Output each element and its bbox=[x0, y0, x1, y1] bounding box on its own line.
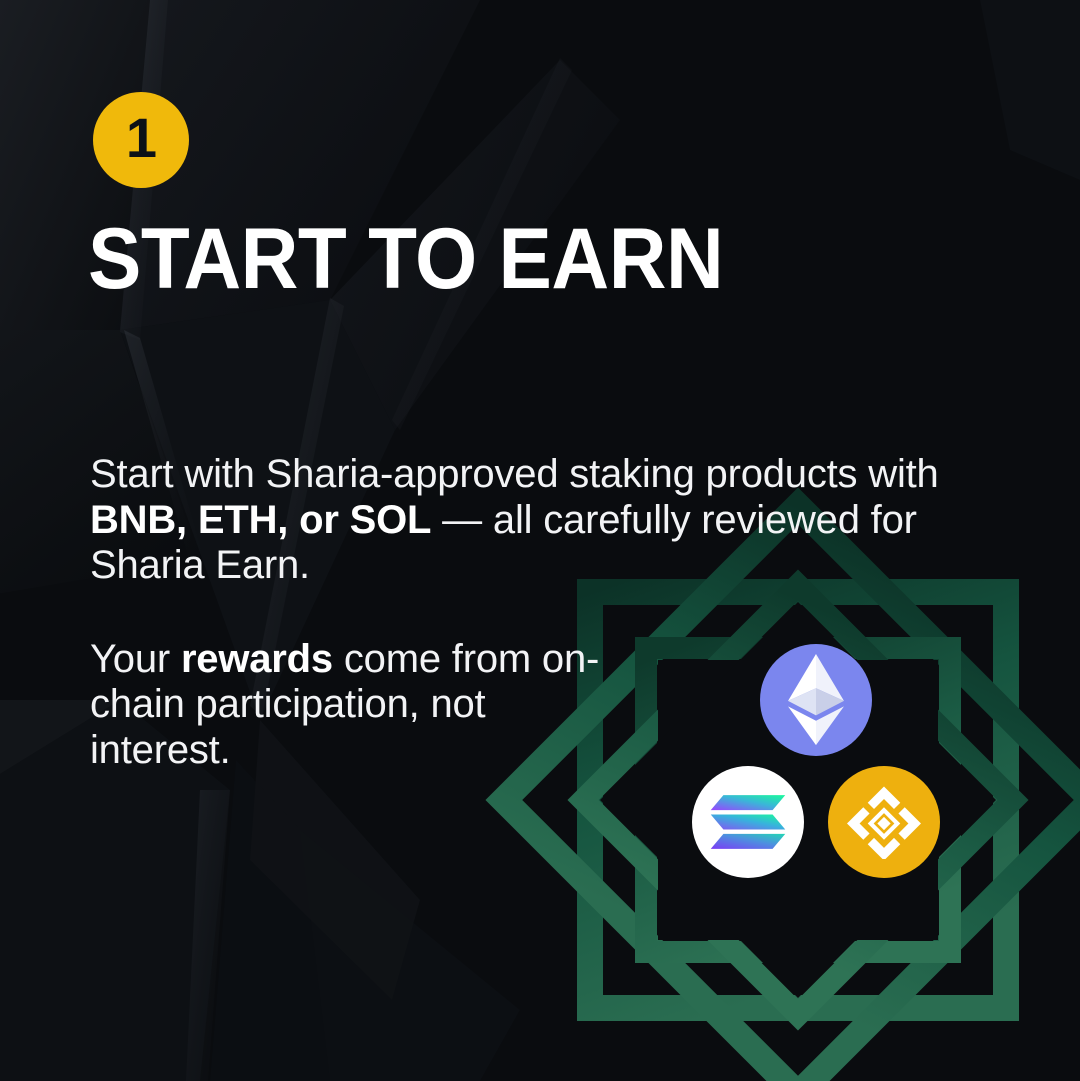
promo-card: 1 START TO EARN Start with Sharia-approv… bbox=[0, 0, 1080, 1081]
paragraph-one-bold: BNB, ETH, or SOL bbox=[90, 498, 431, 542]
ethereum-coin-icon bbox=[760, 644, 872, 756]
page-title: START TO EARN bbox=[88, 216, 723, 302]
solana-coin-icon bbox=[692, 766, 804, 878]
coin-logo-cluster bbox=[672, 640, 972, 890]
step-number-badge: 1 bbox=[93, 92, 189, 188]
paragraph-two-text-a: Your bbox=[90, 637, 181, 681]
paragraph-one-text-a: Start with Sharia-approved staking produ… bbox=[90, 452, 939, 496]
binance-coin-icon bbox=[828, 766, 940, 878]
step-number-label: 1 bbox=[126, 110, 156, 166]
paragraph-two: Your rewards come from on-chain particip… bbox=[90, 637, 630, 774]
paragraph-one: Start with Sharia-approved staking produ… bbox=[90, 452, 1010, 589]
paragraph-two-bold: rewards bbox=[181, 637, 333, 681]
